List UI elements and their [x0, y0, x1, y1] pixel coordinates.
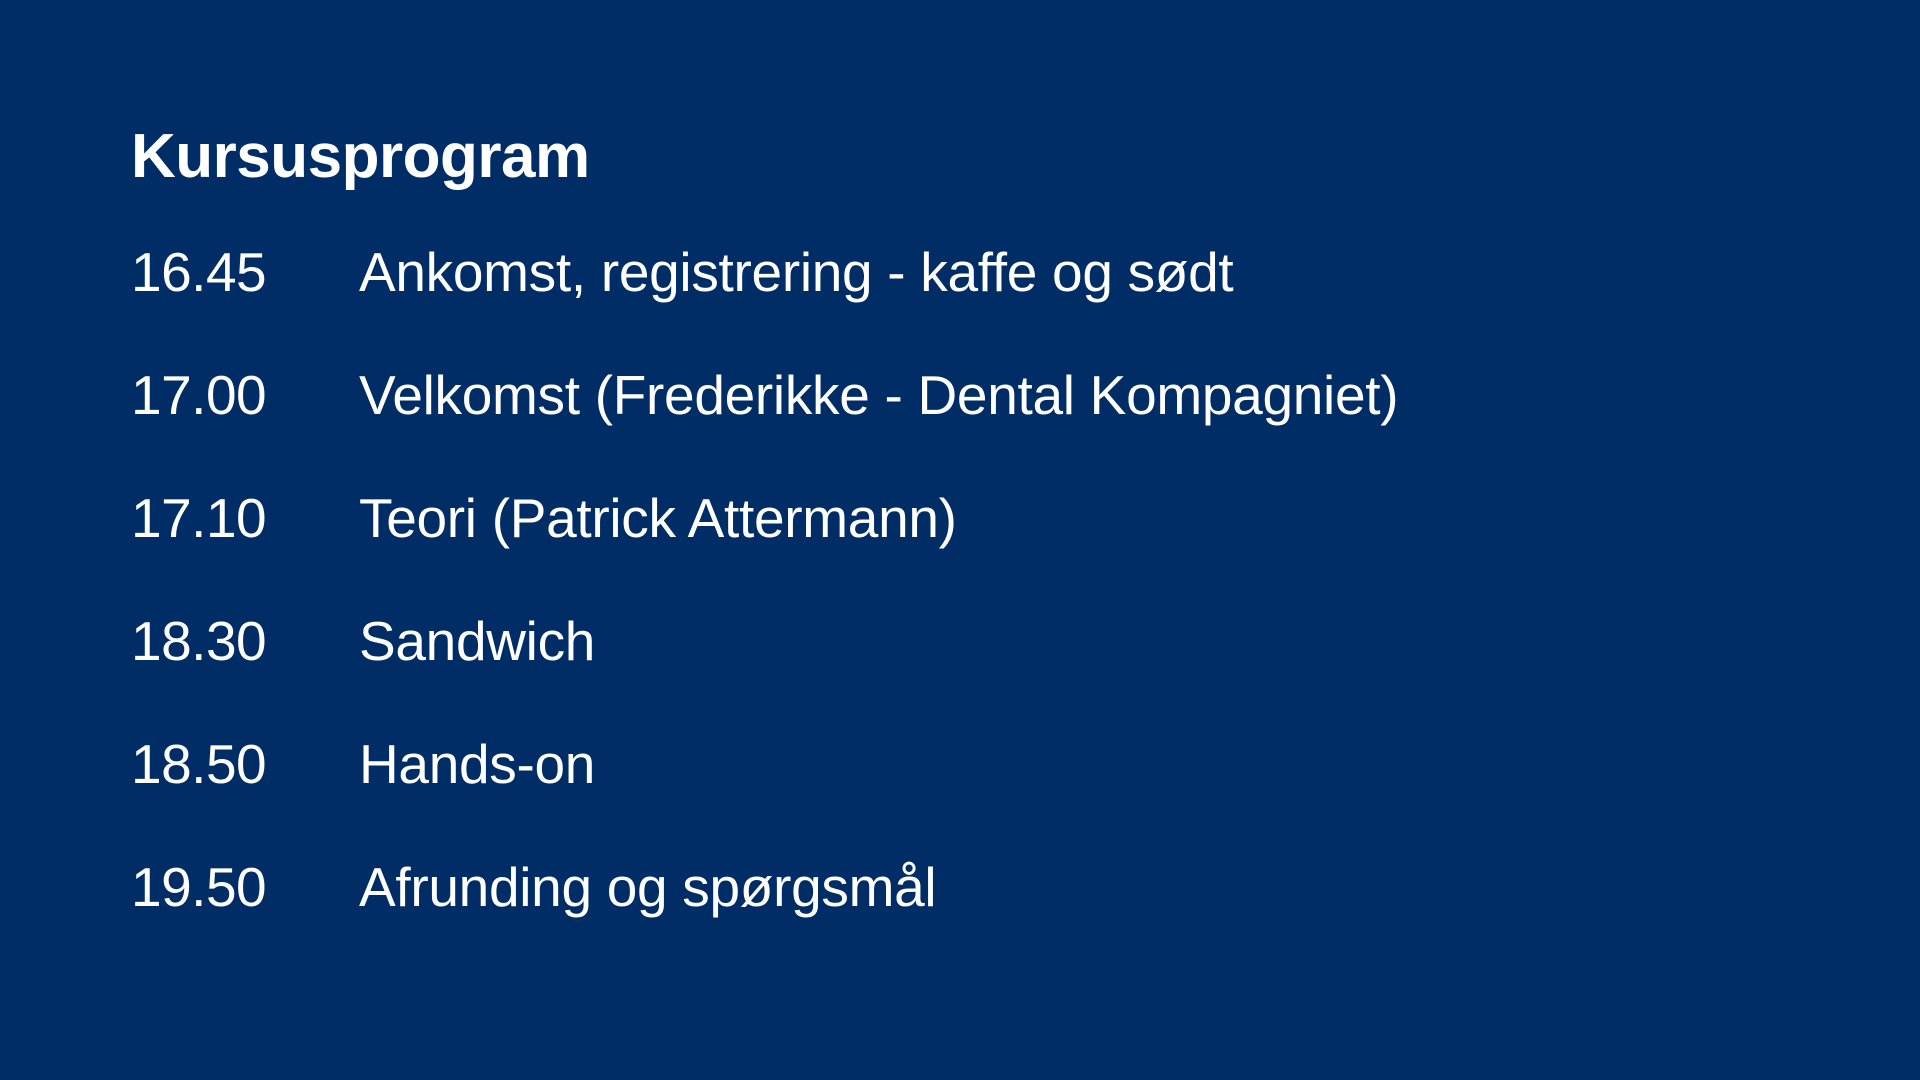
schedule-row-label: Afrunding og spørgsmål [359, 855, 1831, 919]
schedule-row-label: Teori (Patrick Attermann) [359, 486, 1831, 550]
presentation-slide: Kursusprogram 16.45Ankomst, registrering… [0, 0, 1920, 1080]
schedule-row-time: 18.30 [131, 609, 359, 673]
schedule-row-label: Ankomst, registrering - kaffe og sødt [359, 240, 1831, 304]
schedule-list: 16.45Ankomst, registrering - kaffe og sø… [131, 240, 1831, 978]
schedule-row-time: 18.50 [131, 732, 359, 796]
schedule-row: 17.10Teori (Patrick Attermann) [131, 486, 1831, 609]
schedule-row: 19.50Afrunding og spørgsmål [131, 855, 1831, 978]
page-title: Kursusprogram [131, 124, 590, 189]
schedule-row-label: Velkomst (Frederikke - Dental Kompagniet… [359, 363, 1831, 427]
schedule-row: 18.30Sandwich [131, 609, 1831, 732]
schedule-row-label: Hands-on [359, 732, 1831, 796]
schedule-row: 17.00Velkomst (Frederikke - Dental Kompa… [131, 363, 1831, 486]
schedule-row: 18.50Hands-on [131, 732, 1831, 855]
schedule-row: 16.45Ankomst, registrering - kaffe og sø… [131, 240, 1831, 363]
schedule-row-time: 19.50 [131, 855, 359, 919]
schedule-row-time: 17.00 [131, 363, 359, 427]
schedule-row-time: 17.10 [131, 486, 359, 550]
schedule-row-label: Sandwich [359, 609, 1831, 673]
schedule-row-time: 16.45 [131, 240, 359, 304]
